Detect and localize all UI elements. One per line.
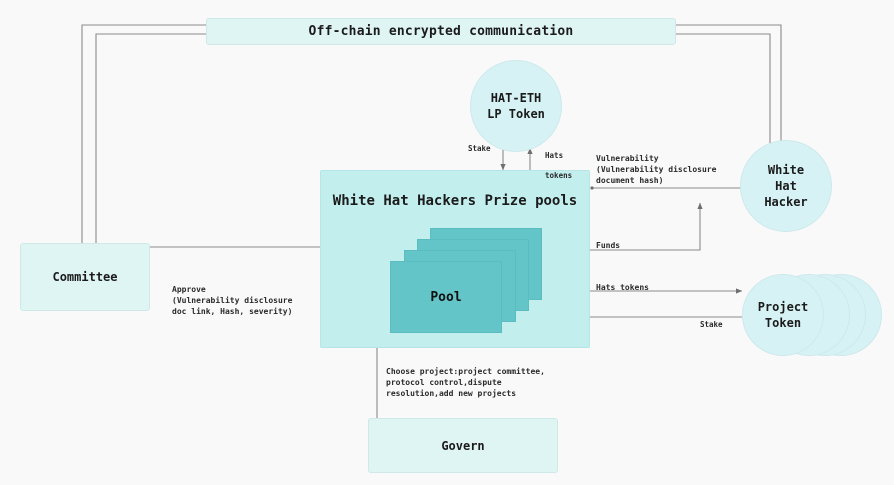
node-committee[interactable]: Committee: [20, 243, 150, 311]
node-white-hat-hacker[interactable]: White Hat Hacker: [740, 140, 832, 232]
hat-eth-lp-token-line1: HAT-ETH: [491, 91, 542, 105]
line-title-to-whitehat-outer: [676, 25, 781, 148]
node-govern[interactable]: Govern: [368, 418, 558, 473]
offchain-communication-banner: Off-chain encrypted communication: [206, 18, 676, 45]
line-title-to-whitehat-inner: [676, 34, 770, 168]
committee-label: Committee: [52, 269, 117, 285]
white-hat-hacker-label: White Hat Hacker: [764, 162, 807, 210]
edge-label-vulnerability: Vulnerability (Vulnerability disclosure …: [596, 153, 716, 186]
hat-eth-lp-token-label: HAT-ETH LP Token: [487, 90, 545, 122]
white-hat-hacker-line1: White: [768, 163, 804, 177]
line-title-to-committee-outer: [82, 25, 206, 245]
edge-label-govern-note: Choose project:project committee, protoc…: [386, 366, 545, 399]
edge-label-funds: Funds: [596, 240, 620, 251]
node-hat-eth-lp-token[interactable]: HAT-ETH LP Token: [470, 60, 562, 152]
pool-card-label: Pool: [430, 290, 461, 305]
pool-card-1[interactable]: Pool: [390, 261, 502, 333]
govern-label: Govern: [441, 438, 484, 454]
edge-label-stake-lp: Stake: [468, 144, 491, 154]
hats-tokens-lp-line2: tokens: [545, 171, 572, 180]
edge-label-hats-tokens-project: Hats tokens: [596, 282, 649, 293]
hat-eth-lp-token-line2: LP Token: [487, 107, 545, 121]
line-title-to-committee-inner: [96, 34, 206, 247]
prize-pools-label: White Hat Hackers Prize pools: [321, 193, 589, 209]
edge-label-hats-tokens-lp: Hats tokens: [536, 141, 572, 181]
white-hat-hacker-line3: Hacker: [764, 195, 807, 209]
project-token-line2: Token: [765, 316, 801, 330]
project-token-line1: Project: [758, 300, 809, 314]
edge-label-stake-project: Stake: [700, 320, 723, 330]
hats-tokens-lp-line1: Hats: [545, 151, 563, 160]
node-project-token[interactable]: Project Token: [742, 274, 824, 356]
edge-label-approve: Approve (Vulnerability disclosure doc li…: [172, 284, 292, 317]
white-hat-hacker-line2: Hat: [775, 179, 797, 193]
project-token-label: Project Token: [758, 299, 809, 331]
offchain-communication-label: Off-chain encrypted communication: [309, 24, 574, 39]
pool-card-stack: Pool: [390, 228, 542, 328]
